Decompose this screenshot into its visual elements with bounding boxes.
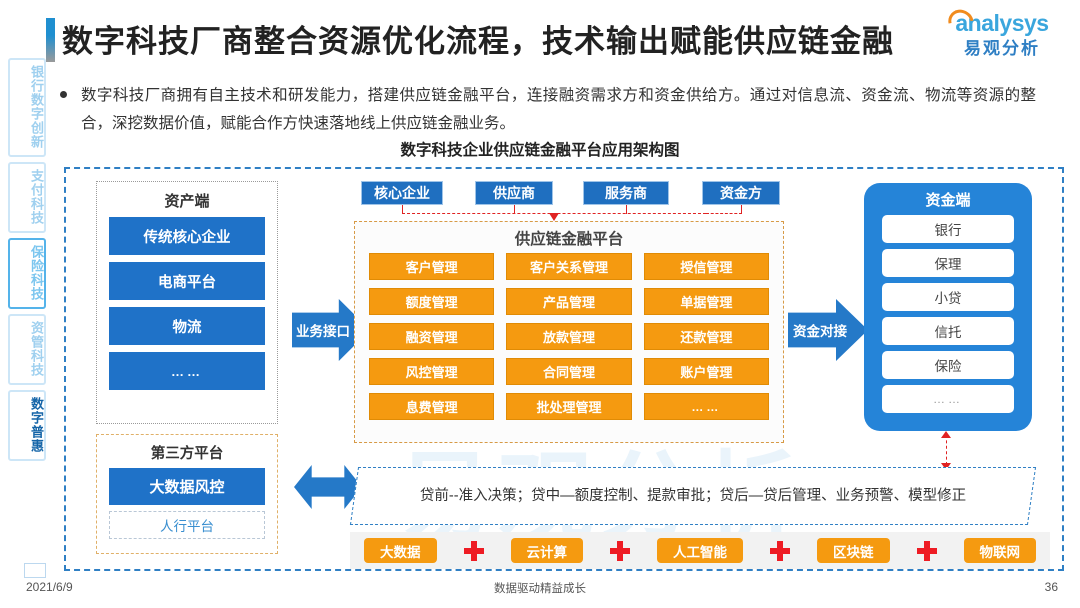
- intro-bullet-text: 数字科技厂商拥有自主技术和研发能力，搭建供应链金融平台，连接融资需求方和资金供给…: [81, 82, 1036, 138]
- platform-module-grid: 客户管理 客户关系管理 授信管理 额度管理 产品管理 单据管理 融资管理 放款管…: [355, 253, 783, 420]
- intro-bullet-row: 数字科技厂商拥有自主技术和研发能力，搭建供应链金融平台，连接融资需求方和资金供给…: [60, 82, 1060, 138]
- module-more[interactable]: ……: [644, 393, 769, 420]
- module-customer-mgmt[interactable]: 客户管理: [369, 253, 494, 280]
- fund-side-title: 资金端: [864, 183, 1032, 215]
- sidebar-item-payment[interactable]: 支付科技: [8, 162, 46, 233]
- analysys-logo: analysys 易观分析: [942, 8, 1062, 66]
- architecture-canvas: 易观分析 资产端 传统核心企业 电商平台 物流 …… 第三方平台 大数据风控 人…: [64, 167, 1064, 571]
- footer-page-number: 36: [1045, 580, 1058, 594]
- module-loan-disbursement[interactable]: 放款管理: [506, 323, 631, 350]
- tech-stack-row: 大数据 云计算 人工智能 区块链 物联网: [350, 532, 1050, 569]
- role-connector-v3: [626, 205, 627, 214]
- diagram-title: 数字科技企业供应链金融平台应用架构图: [0, 138, 1080, 160]
- module-account-mgmt[interactable]: 账户管理: [644, 358, 769, 385]
- role-connector-arrowhead-icon: [549, 213, 559, 221]
- asset-side-title: 资产端: [97, 182, 277, 217]
- module-product-mgmt[interactable]: 产品管理: [506, 288, 631, 315]
- corner-decoration: [24, 563, 46, 578]
- sidebar: 银行数字创新 支付科技 保险科技 资管科技 数字普惠: [8, 58, 46, 466]
- title-accent-bar: [46, 18, 55, 62]
- fund-item-insurance[interactable]: 保险: [882, 351, 1014, 379]
- module-contract-mgmt[interactable]: 合同管理: [506, 358, 631, 385]
- role-connector-v2: [514, 205, 515, 214]
- bidirectional-arrow-icon: [294, 465, 362, 509]
- footer: 2021/6/9 数据驱动精益成长 36: [0, 580, 1080, 600]
- fund-side-panel: 资金端 银行 保理 小贷 信托 保险 ……: [864, 183, 1032, 431]
- page-title: 数字科技厂商整合资源优化流程，技术输出赋能供应链金融: [62, 16, 894, 61]
- asset-item-core-enterprise[interactable]: 传统核心企业: [109, 217, 265, 255]
- module-batch-processing[interactable]: 批处理管理: [506, 393, 631, 420]
- role-connector-horizontal-right: [706, 213, 742, 214]
- logo-wordmark: analysys: [942, 8, 1062, 38]
- third-party-panel: 第三方平台 大数据风控 人行平台: [96, 434, 278, 554]
- role-tag-core-enterprise[interactable]: 核心企业: [361, 181, 443, 205]
- fund-item-microloan[interactable]: 小贷: [882, 283, 1014, 311]
- asset-item-logistics[interactable]: 物流: [109, 307, 265, 345]
- role-connector-v1: [402, 205, 403, 214]
- plus-icon-3: [770, 541, 790, 561]
- footer-slogan: 数据驱动精益成长: [0, 580, 1080, 596]
- platform-title: 供应链金融平台: [355, 222, 783, 253]
- module-crm[interactable]: 客户关系管理: [506, 253, 631, 280]
- role-tag-funder[interactable]: 资金方: [702, 181, 780, 205]
- sidebar-item-inclusive-finance[interactable]: 数字普惠: [8, 390, 46, 461]
- tech-blockchain[interactable]: 区块链: [817, 538, 890, 563]
- third-party-title: 第三方平台: [97, 435, 277, 468]
- tech-ai[interactable]: 人工智能: [657, 538, 743, 563]
- fund-item-more[interactable]: ……: [882, 385, 1014, 413]
- sidebar-item-asset-mgmt[interactable]: 资管科技: [8, 314, 46, 385]
- module-risk-control[interactable]: 风控管理: [369, 358, 494, 385]
- tech-iot[interactable]: 物联网: [964, 538, 1037, 563]
- module-financing-mgmt[interactable]: 融资管理: [369, 323, 494, 350]
- tech-bigdata[interactable]: 大数据: [364, 538, 437, 563]
- asset-item-ecommerce[interactable]: 电商平台: [109, 262, 265, 300]
- plus-icon-1: [464, 541, 484, 561]
- module-bill-mgmt[interactable]: 单据管理: [644, 288, 769, 315]
- fund-connection-arrow: 资金对接: [788, 299, 868, 361]
- plus-icon-2: [610, 541, 630, 561]
- fund-item-bank[interactable]: 银行: [882, 215, 1014, 243]
- fund-item-factoring[interactable]: 保理: [882, 249, 1014, 277]
- module-credit-grant[interactable]: 授信管理: [644, 253, 769, 280]
- role-tag-service-provider[interactable]: 服务商: [583, 181, 669, 205]
- tech-cloud-computing[interactable]: 云计算: [511, 538, 584, 563]
- slide-root: 数字科技厂商整合资源优化流程，技术输出赋能供应链金融 analysys 易观分析…: [0, 0, 1080, 608]
- credit-lifecycle-text: 贷前--准入决策；贷中—额度控制、提款审批；贷后—贷后管理、业务预警、模型修正: [355, 468, 1031, 524]
- fund-lifecycle-connector: [946, 435, 947, 465]
- role-tag-supplier[interactable]: 供应商: [475, 181, 553, 205]
- third-party-pboc-platform[interactable]: 人行平台: [109, 511, 265, 539]
- supply-chain-platform-panel: 供应链金融平台 客户管理 客户关系管理 授信管理 额度管理 产品管理 单据管理 …: [354, 221, 784, 443]
- module-interest-fee-mgmt[interactable]: 息费管理: [369, 393, 494, 420]
- module-repayment-mgmt[interactable]: 还款管理: [644, 323, 769, 350]
- logo-sub-text: 易观分析: [942, 38, 1062, 60]
- third-party-bigdata-riskcontrol[interactable]: 大数据风控: [109, 468, 265, 505]
- module-quota-mgmt[interactable]: 额度管理: [369, 288, 494, 315]
- sidebar-item-insurance[interactable]: 保险科技: [8, 238, 46, 309]
- fund-item-trust[interactable]: 信托: [882, 317, 1014, 345]
- plus-icon-4: [917, 541, 937, 561]
- bullet-dot-icon: [60, 91, 67, 98]
- credit-lifecycle-panel: 贷前--准入决策；贷中—额度控制、提款审批；贷后—贷后管理、业务预警、模型修正: [350, 467, 1036, 525]
- asset-item-more[interactable]: ……: [109, 352, 265, 390]
- asset-side-panel: 资产端 传统核心企业 电商平台 物流 ……: [96, 181, 278, 424]
